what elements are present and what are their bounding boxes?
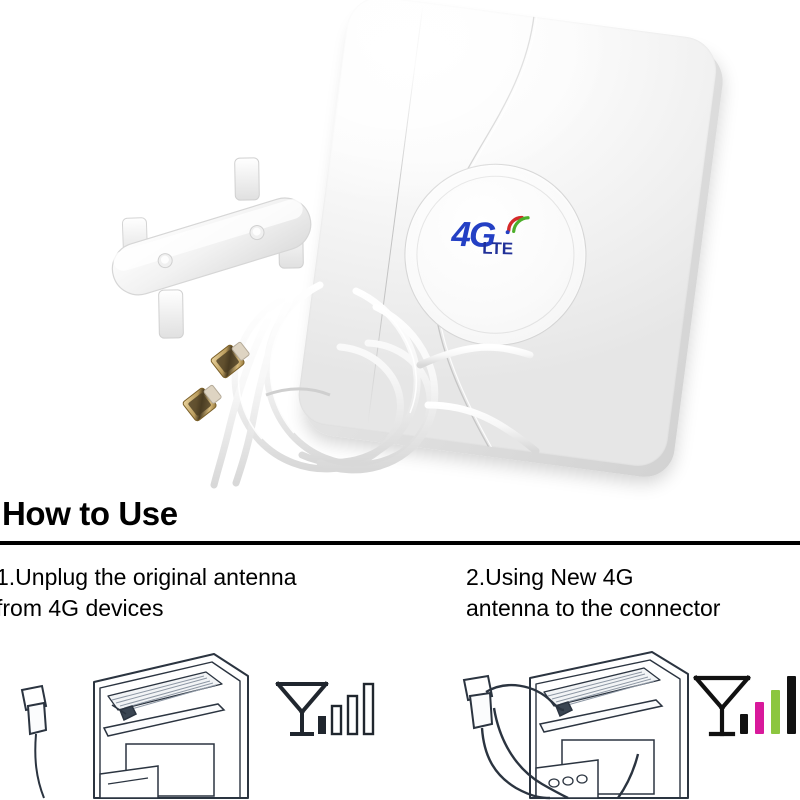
product-photo: 4G LTE — [0, 0, 800, 500]
product-instruction-image: 4G LTE — [0, 0, 800, 800]
page-title: How to Use — [2, 497, 178, 530]
instruction-steps: 1.Unplug the original antenna from 4G de… — [0, 556, 800, 800]
step-1-line-2: from 4G devices — [0, 593, 396, 624]
step-2-line-2: antenna to the connector — [466, 593, 800, 624]
router-rear-panel-connected — [438, 648, 700, 800]
step-1-line-1: 1.Unplug the original antenna — [0, 562, 396, 593]
signal-bars-color-icon — [690, 664, 800, 742]
step-2-text: 2.Using New 4G antenna to the connector — [466, 562, 800, 624]
instruction-step-2: 2.Using New 4G antenna to the connector — [400, 556, 800, 800]
instruction-step-1: 1.Unplug the original antenna from 4G de… — [0, 556, 400, 800]
router-rear-panel-unplugged — [8, 648, 258, 800]
coiled-coaxial-cables — [170, 255, 540, 500]
step-2-line-1: 2.Using New 4G — [466, 562, 800, 593]
signal-wave-icon — [505, 214, 532, 235]
step-1-text: 1.Unplug the original antenna from 4G de… — [0, 562, 396, 624]
signal-bars-mono-icon — [272, 672, 384, 742]
panel-highlight — [297, 0, 654, 228]
title-divider — [0, 541, 800, 545]
